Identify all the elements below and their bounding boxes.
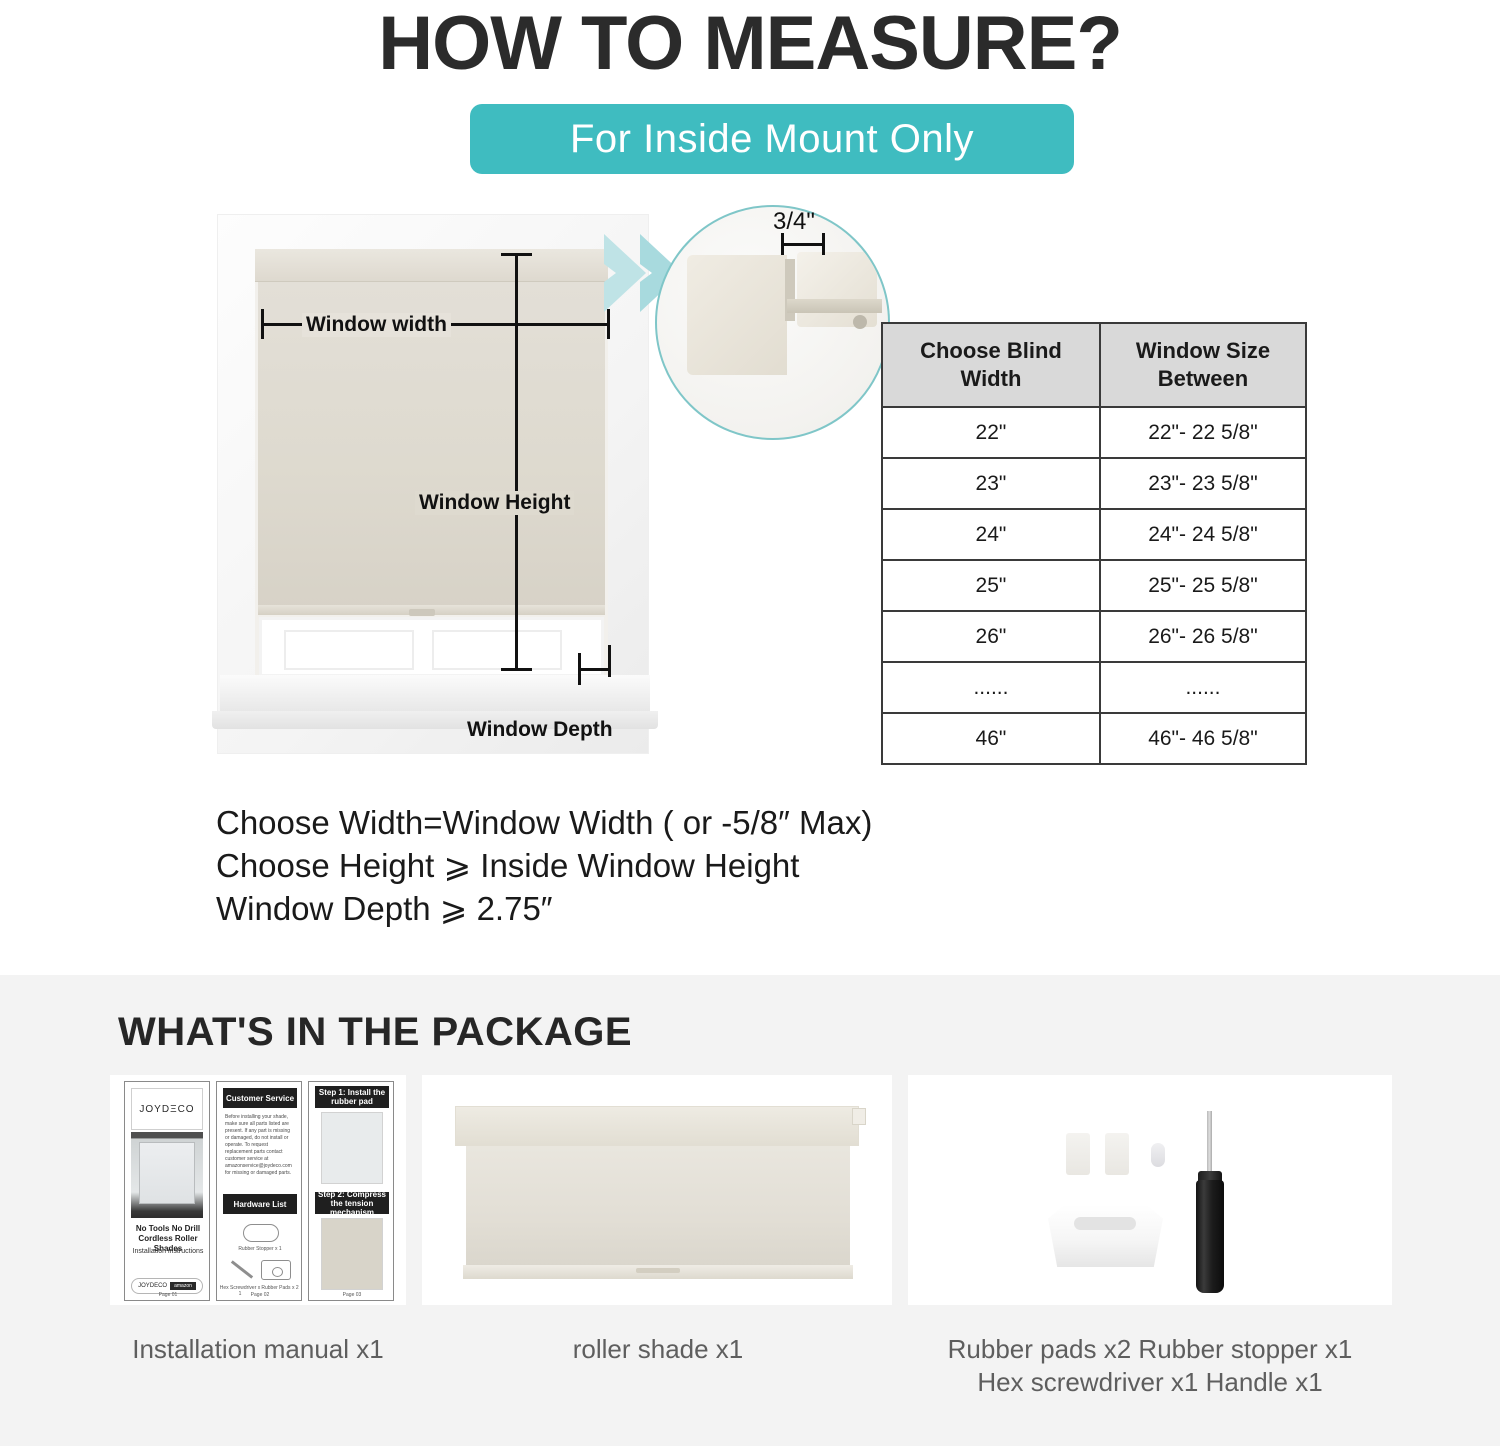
brand-logo: JOYDΞCO [131,1088,203,1130]
bracket-gap-tick-right [822,233,825,255]
step-2-header: Step 2: Compress the tension mechanism [315,1192,389,1214]
cell-window-size: 26"- 26 5/8" [1100,611,1306,662]
handle [1048,1205,1163,1267]
cell-window-size: 25"- 25 5/8" [1100,560,1306,611]
cell-blind-width: 26" [882,611,1100,662]
cover-subtitle: Installation instructions [129,1248,207,1255]
depth-tick-left [578,653,581,685]
rubber-stopper-icon [243,1224,279,1242]
bracket-gap-label: 3/4" [773,208,815,236]
hardware-list-header: Hardware List [223,1194,297,1214]
height-tick-top [501,253,532,256]
caption-hardware-line-1: Rubber pads x2 Rubber stopper x1 [948,1334,1353,1364]
cell-window-size: 22"- 22 5/8" [1100,407,1306,458]
cover-title-line-1: No Tools No Drill [136,1224,200,1233]
bracket-detail-inset [655,205,890,440]
header-line-2: Between [1158,366,1248,391]
step-2-photo [321,1218,383,1290]
package-item-roller-shade-card [422,1075,892,1305]
hex-screwdriver-handle [1196,1180,1224,1293]
height-tick-bottom [501,668,532,671]
table-row: 46"46"- 46 5/8" [882,713,1306,764]
page-number: Page 03 [309,1292,395,1298]
window-depth-label: Window Depth [467,718,613,742]
cell-window-size: 23"- 23 5/8" [1100,458,1306,509]
cell-window-size: ...... [1100,662,1306,713]
hex-screwdriver-shaft [1207,1111,1212,1174]
caption-hardware-line-2: Hex screwdriver x1 Handle x1 [977,1367,1322,1397]
handle-slot [1074,1217,1136,1230]
inside-mount-badge-label: For Inside Mount Only [570,117,974,162]
hardware-caption-stopper: Rubber Stopper x 1 [223,1246,297,1252]
roller-shade-headrail [455,1106,859,1146]
bracket-arm [787,299,882,313]
bracket-gap-line [782,243,824,246]
cell-blind-width: 24" [882,509,1100,560]
table-row: 26"26"- 26 5/8" [882,611,1306,662]
blind-width-size-table: Choose Blind Width Window Size Between 2… [881,322,1307,765]
cover-product-photo [131,1132,203,1218]
window-width-label: Window width [302,313,451,337]
window-glass-left [284,630,414,670]
bracket-gap-tick-left [781,233,784,255]
cell-window-size: 24"- 24 5/8" [1100,509,1306,560]
depth-dimension-line [578,668,610,671]
bracket-left-part [687,255,787,375]
inside-mount-badge: For Inside Mount Only [470,104,1074,174]
customer-service-header: Customer Service [223,1088,297,1108]
window-height-label: Window Height [415,491,574,515]
instruction-line-1: Choose Width=Window Width ( or -5/8″ Max… [216,802,1316,844]
table-row: 24"24"- 24 5/8" [882,509,1306,560]
depth-tick-right [608,645,611,677]
brochure-panel-service: Customer Service Before installing your … [216,1081,302,1301]
rubber-pad-2 [1105,1133,1129,1175]
shade-pull-tab [409,609,435,616]
how-to-measure-infographic: HOW TO MEASURE? For Inside Mount Only Wi… [0,0,1500,1446]
page-title: HOW TO MEASURE? [0,2,1500,86]
size-table-head: Choose Blind Width Window Size Between [882,323,1306,407]
customer-service-body: Before installing your shade, make sure … [225,1114,295,1182]
cell-blind-width: ...... [882,662,1100,713]
cover-photo-shade [139,1142,195,1204]
brochure-panel-steps: Step 1: Install the rubber pad Step 2: C… [308,1081,394,1301]
brochure-panel-cover: JOYDΞCO No Tools No Drill Cordless Rolle… [124,1081,210,1301]
installation-manual-brochure: JOYDΞCO No Tools No Drill Cordless Rolle… [124,1081,394,1301]
package-item-hardware-card [908,1075,1392,1305]
window-glass-right [432,630,562,670]
height-dimension-line [515,253,518,671]
bracket-right-part [797,252,877,327]
measure-instructions: Choose Width=Window Width ( or -5/8″ Max… [216,802,1316,931]
header-line-2: Width [961,366,1022,391]
roller-shade-fabric [466,1146,850,1268]
how-to-measure-section: HOW TO MEASURE? For Inside Mount Only Wi… [0,0,1500,975]
instruction-line-2: Choose Height ⩾ Inside Window Height [216,845,1316,887]
size-table-header-window-size: Window Size Between [1100,323,1306,407]
table-row: 23"23"- 23 5/8" [882,458,1306,509]
header-line-1: Window Size [1136,338,1270,363]
caption-roller-shade: roller shade x1 [430,1333,886,1366]
step-1-photo [321,1112,383,1184]
package-item-manual-card: JOYDΞCO No Tools No Drill Cordless Rolle… [110,1075,406,1305]
table-row: ............ [882,662,1306,713]
window-sill [220,675,650,711]
table-row: 22"22"- 22 5/8" [882,407,1306,458]
header-line-1: Choose Blind [920,338,1062,363]
cell-window-size: 46"- 46 5/8" [1100,713,1306,764]
cell-blind-width: 22" [882,407,1100,458]
cell-blind-width: 25" [882,560,1100,611]
hardware-caption-pads: Rubber Pads x 2 [259,1285,301,1291]
page-number: Page 02 [217,1292,303,1298]
roller-shade-valance [255,249,608,282]
width-tick-left [261,309,264,339]
cell-blind-width: 23" [882,458,1100,509]
roller-shade-pull-tab [636,1268,680,1273]
page-number: Page 01 [125,1292,211,1298]
hex-screwdriver-icon [231,1260,253,1278]
rubber-pad-1 [1066,1133,1090,1175]
roller-shade-bracket [852,1108,866,1125]
table-row: 25"25"- 25 5/8" [882,560,1306,611]
step-1-header: Step 1: Install the rubber pad [315,1086,389,1108]
instruction-line-3: Window Depth ⩾ 2.75″ [216,888,1316,930]
size-table-header-blind-width: Choose Blind Width [882,323,1100,407]
cell-blind-width: 46" [882,713,1100,764]
package-title: WHAT'S IN THE PACKAGE [118,1010,632,1055]
footer-amazon-badge: amazon [170,1282,196,1290]
size-table-header-row: Choose Blind Width Window Size Between [882,323,1306,407]
size-table-body: 22"22"- 22 5/8" 23"23"- 23 5/8" 24"24"- … [882,407,1306,764]
bracket-screw [853,315,867,329]
whats-in-the-package-section: WHAT'S IN THE PACKAGE JOYDΞCO No Tools N… [0,975,1500,1446]
window-sash [259,617,604,677]
caption-hardware: Rubber pads x2 Rubber stopper x1 Hex scr… [888,1333,1412,1399]
rubber-pads-icon [261,1260,291,1280]
footer-brand: JOYDECO [138,1283,167,1289]
caption-installation-manual: Installation manual x1 [88,1333,428,1366]
rubber-stopper [1151,1143,1165,1167]
